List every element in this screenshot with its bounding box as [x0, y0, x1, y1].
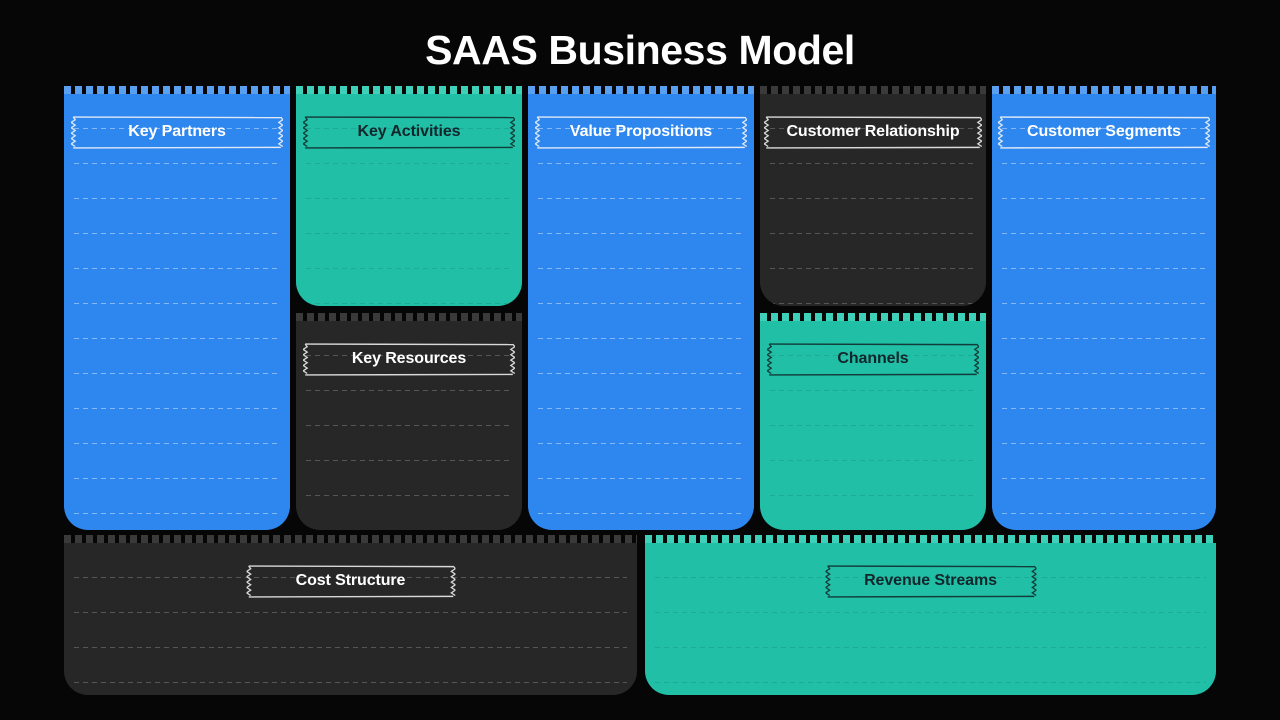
ruled-lines [538, 94, 744, 530]
block-label-box[interactable]: Customer Segments [998, 116, 1210, 149]
block-label-text: Key Partners [128, 123, 226, 141]
block-body [992, 94, 1216, 530]
block-label-box[interactable]: Channels [767, 343, 979, 376]
canvas-block-customer-relationship[interactable]: Customer Relationship [760, 94, 986, 306]
canvas-block-key-resources[interactable]: Key Resources [296, 321, 522, 530]
business-model-canvas: SAAS Business Model Key PartnersKey Acti… [0, 0, 1280, 720]
block-label-text: Value Propositions [570, 123, 712, 141]
block-label-box[interactable]: Value Propositions [535, 116, 747, 149]
canvas-block-customer-segments[interactable]: Customer Segments [992, 94, 1216, 530]
notepad-teeth-icon [645, 535, 1216, 543]
block-label-text: Key Resources [352, 350, 466, 368]
notepad-teeth-icon [760, 313, 986, 321]
notepad-teeth-icon [760, 86, 986, 94]
block-label-text: Revenue Streams [864, 572, 997, 590]
block-body [528, 94, 754, 530]
canvas-block-channels[interactable]: Channels [760, 321, 986, 530]
notepad-teeth-icon [992, 86, 1216, 94]
block-label-text: Key Activities [358, 123, 461, 141]
canvas-block-key-activities[interactable]: Key Activities [296, 94, 522, 306]
page-title: SAAS Business Model [0, 28, 1280, 73]
block-label-box[interactable]: Key Activities [303, 116, 515, 149]
block-label-text: Cost Structure [296, 572, 406, 590]
block-label-box[interactable]: Key Resources [303, 343, 515, 376]
canvas-block-key-partners[interactable]: Key Partners [64, 94, 290, 530]
ruled-lines [74, 94, 280, 530]
canvas-block-cost-structure[interactable]: Cost Structure [64, 543, 637, 695]
block-body [64, 94, 290, 530]
notepad-teeth-icon [528, 86, 754, 94]
block-label-box[interactable]: Customer Relationship [764, 116, 982, 149]
canvas-block-value-propositions[interactable]: Value Propositions [528, 94, 754, 530]
block-label-text: Customer Relationship [786, 123, 959, 141]
notepad-teeth-icon [296, 313, 522, 321]
block-label-box[interactable]: Revenue Streams [825, 565, 1036, 598]
block-label-text: Channels [837, 350, 908, 368]
block-label-text: Customer Segments [1027, 123, 1181, 141]
canvas-block-revenue-streams[interactable]: Revenue Streams [645, 543, 1216, 695]
block-label-box[interactable]: Key Partners [71, 116, 283, 149]
notepad-teeth-icon [64, 86, 290, 94]
ruled-lines [1002, 94, 1206, 530]
block-label-box[interactable]: Cost Structure [246, 565, 455, 598]
notepad-teeth-icon [64, 535, 637, 543]
notepad-teeth-icon [296, 86, 522, 94]
